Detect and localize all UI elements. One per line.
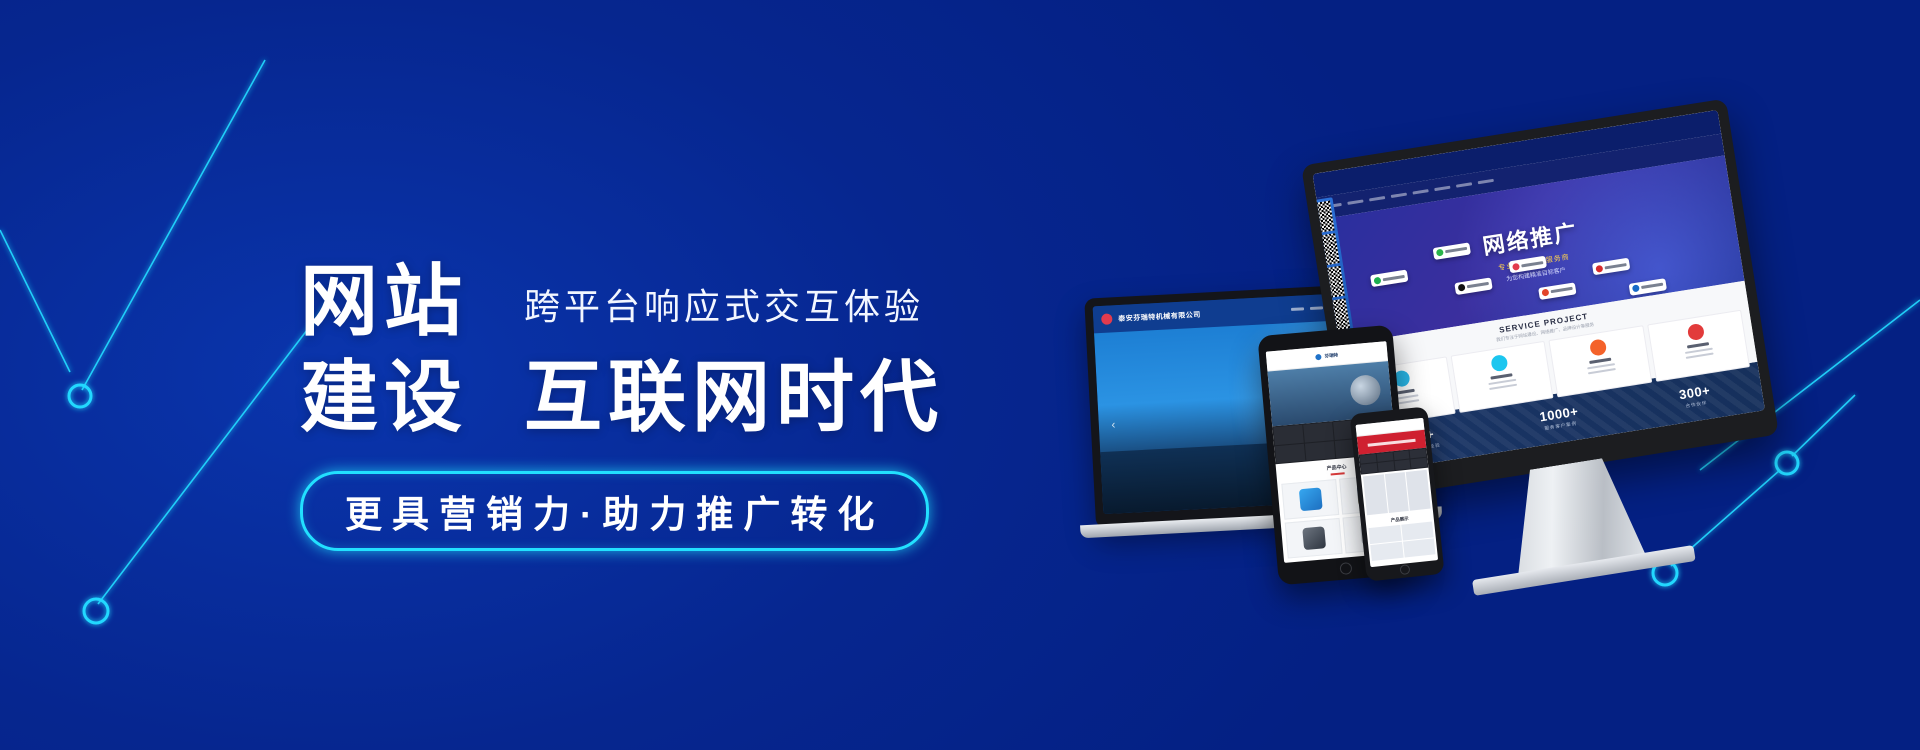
laptop-brand: 泰安芬瑞特机械有限公司 bbox=[1118, 309, 1201, 323]
product-cell[interactable] bbox=[1370, 541, 1403, 560]
nav-item[interactable] bbox=[1310, 306, 1323, 310]
feature-thumb[interactable] bbox=[1406, 469, 1431, 510]
nav-item[interactable] bbox=[1434, 186, 1450, 191]
platform-chip[interactable] bbox=[1432, 242, 1470, 260]
platform-chip[interactable] bbox=[1370, 270, 1408, 288]
nav-item[interactable] bbox=[1413, 190, 1429, 195]
nav-item[interactable] bbox=[1369, 196, 1385, 201]
headline-phrase-2: 互联网时代 bbox=[524, 358, 944, 438]
stat-item: 300+ 合作伙伴 bbox=[1678, 383, 1713, 411]
qr-code-icon bbox=[1316, 201, 1335, 233]
menu-item[interactable] bbox=[1360, 454, 1377, 464]
home-button-icon[interactable] bbox=[1399, 564, 1410, 575]
platform-chip[interactable] bbox=[1592, 258, 1630, 276]
nav-item[interactable] bbox=[1391, 193, 1407, 198]
platform-chip[interactable] bbox=[1509, 256, 1547, 274]
menu-item[interactable] bbox=[1275, 443, 1305, 463]
headline-row-1: 网站 跨平台响应式交互体验 bbox=[300, 262, 1060, 342]
feature-thumb[interactable] bbox=[1384, 472, 1409, 513]
product-cell[interactable] bbox=[1402, 538, 1435, 557]
feature-thumb[interactable] bbox=[1363, 474, 1388, 515]
stat-item: 1000+ 服务客户案例 bbox=[1538, 404, 1580, 433]
platform-chip[interactable] bbox=[1454, 277, 1492, 295]
menu-item[interactable] bbox=[1377, 461, 1394, 471]
headline-keyword-1: 网站 bbox=[300, 262, 468, 342]
nav-item[interactable] bbox=[1478, 179, 1494, 184]
menu-item[interactable] bbox=[1361, 463, 1378, 473]
headline-keyword-2: 建设 bbox=[300, 358, 468, 438]
qr-code-icon bbox=[1332, 298, 1351, 330]
product-image bbox=[1302, 527, 1326, 551]
product-cell[interactable] bbox=[1401, 521, 1434, 540]
product-cell[interactable] bbox=[1285, 518, 1343, 559]
slogan-badge: 更具营销力·助力推广转化 bbox=[300, 471, 929, 551]
nav-item[interactable] bbox=[1291, 307, 1304, 311]
menu-item[interactable] bbox=[1410, 448, 1427, 458]
product-cell[interactable] bbox=[1368, 524, 1401, 543]
headline-row-2: 建设 互联网时代 bbox=[300, 358, 1060, 438]
home-button-icon[interactable] bbox=[1339, 562, 1352, 575]
headline-subtitle: 跨平台响应式交互体验 bbox=[524, 278, 924, 342]
nav-item[interactable] bbox=[1347, 200, 1363, 205]
service-card[interactable] bbox=[1647, 310, 1750, 382]
phone-product-grid bbox=[1366, 519, 1438, 563]
service-icon bbox=[1589, 339, 1607, 357]
phone-screen: 产品展示 bbox=[1356, 418, 1439, 567]
carousel-prev-icon[interactable]: ‹ bbox=[1111, 417, 1116, 431]
laptop-logo-icon bbox=[1101, 313, 1113, 325]
service-icon bbox=[1687, 323, 1705, 341]
qr-code-icon bbox=[1321, 233, 1340, 265]
menu-item[interactable] bbox=[1394, 460, 1411, 470]
service-card[interactable] bbox=[1548, 325, 1651, 397]
qr-code-icon bbox=[1326, 266, 1345, 298]
hero-banner: 网站 跨平台响应式交互体验 建设 互联网时代 更具营销力·助力推广转化 泰安芬瑞… bbox=[0, 0, 1920, 750]
menu-item[interactable] bbox=[1393, 450, 1410, 460]
device-mockup-cluster: 泰安芬瑞特机械有限公司 芬瑞特 ‹ bbox=[1090, 130, 1890, 650]
product-cell[interactable] bbox=[1281, 479, 1339, 520]
tablet-brand: 芬瑞特 bbox=[1324, 352, 1338, 359]
menu-item[interactable] bbox=[1303, 422, 1333, 442]
platform-chip[interactable] bbox=[1538, 282, 1576, 300]
menu-item[interactable] bbox=[1376, 452, 1393, 462]
service-icon bbox=[1491, 354, 1509, 372]
menu-item[interactable] bbox=[1411, 458, 1428, 468]
service-card[interactable] bbox=[1450, 341, 1553, 413]
menu-item[interactable] bbox=[1273, 425, 1303, 445]
hero-copy: 网站 跨平台响应式交互体验 建设 互联网时代 更具营销力·助力推广转化 bbox=[300, 262, 1060, 551]
product-image bbox=[1298, 488, 1322, 512]
tablet-logo-icon bbox=[1315, 353, 1322, 360]
menu-item[interactable] bbox=[1305, 441, 1335, 461]
nav-item[interactable] bbox=[1456, 183, 1472, 188]
hero-product-image bbox=[1350, 374, 1383, 407]
phone-feature-row bbox=[1361, 467, 1433, 517]
